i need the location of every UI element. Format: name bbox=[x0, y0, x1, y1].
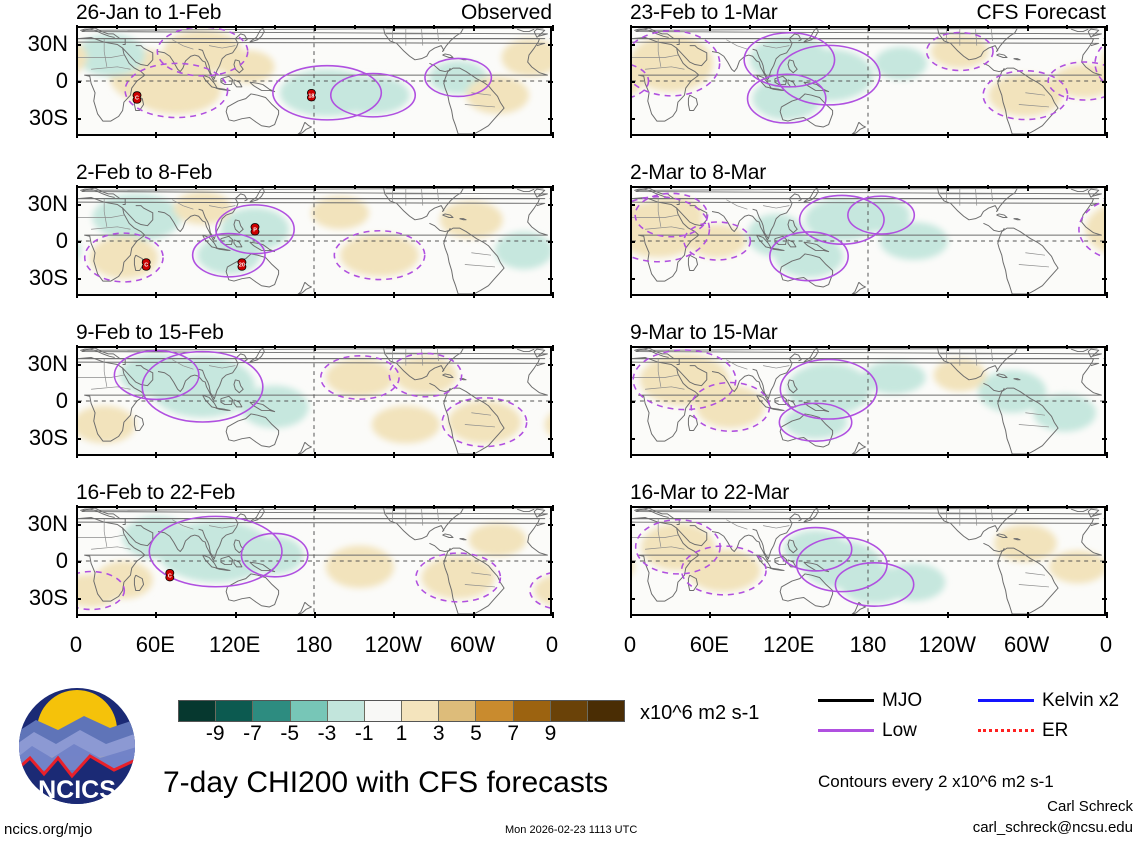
axis-tick-minor bbox=[709, 185, 711, 189]
axis-tick-minor bbox=[947, 345, 949, 349]
legend-item: ER bbox=[978, 718, 1068, 742]
legend-label: Kelvin x2 bbox=[1042, 691, 1119, 710]
axis-tick bbox=[630, 561, 635, 563]
axis-tick bbox=[947, 132, 949, 138]
axis-tick bbox=[709, 452, 711, 458]
axis-tick-minor bbox=[155, 25, 157, 29]
colorbar-segment bbox=[253, 701, 290, 721]
axis-tick bbox=[473, 612, 475, 618]
axis-tick-minor bbox=[670, 25, 672, 29]
axis-tick bbox=[548, 204, 553, 206]
axis-tick bbox=[1106, 132, 1108, 138]
author-name-label: Carl Schreck bbox=[1047, 798, 1133, 815]
axis-tick-minor bbox=[749, 505, 751, 509]
axis-tick-minor bbox=[512, 25, 514, 29]
axis-tick bbox=[630, 292, 632, 298]
colorbar-segment bbox=[476, 701, 513, 721]
y-axis-label: 0 bbox=[56, 390, 68, 412]
colorbar-segment bbox=[439, 701, 476, 721]
axis-tick-minor bbox=[789, 25, 791, 29]
axis-tick bbox=[76, 598, 81, 600]
map-frame: C18 bbox=[76, 26, 552, 136]
map-shading bbox=[632, 508, 1104, 614]
axis-tick bbox=[1102, 118, 1107, 120]
axis-tick bbox=[76, 364, 81, 366]
page-title: 7-day CHI200 with CFS forecasts bbox=[163, 768, 608, 798]
svg-text:C: C bbox=[168, 573, 172, 579]
axis-tick bbox=[630, 364, 635, 366]
legend-item: Kelvin x2 bbox=[978, 688, 1119, 712]
colorbar-segment bbox=[551, 701, 588, 721]
axis-tick-minor bbox=[433, 505, 435, 509]
legend-line-swatch bbox=[818, 699, 874, 702]
axis-tick-minor bbox=[868, 345, 870, 349]
map-shading bbox=[632, 28, 1104, 134]
y-axis-label: 0 bbox=[56, 230, 68, 252]
axis-tick bbox=[709, 612, 711, 618]
axis-tick-minor bbox=[709, 25, 711, 29]
axis-tick bbox=[630, 598, 635, 600]
map-frame: C bbox=[76, 506, 552, 616]
map-shading bbox=[632, 348, 1104, 454]
axis-tick bbox=[76, 292, 78, 298]
axis-tick-minor bbox=[433, 345, 435, 349]
legend-label: Low bbox=[882, 721, 917, 740]
colorbar-segment bbox=[216, 701, 253, 721]
axis-tick bbox=[76, 452, 78, 458]
axis-tick bbox=[548, 118, 553, 120]
axis-tick-minor bbox=[908, 185, 910, 189]
colorbar-tick-label: -7 bbox=[243, 723, 262, 744]
axis-tick-minor bbox=[155, 345, 157, 349]
axis-tick bbox=[789, 612, 791, 618]
axis-tick bbox=[393, 132, 395, 138]
axis-tick bbox=[76, 132, 78, 138]
colorbar-tick-labels: -9-7-5-3-113579 bbox=[178, 723, 625, 749]
panel-title: 26-Jan to 1-Feb bbox=[76, 2, 221, 23]
axis-tick-minor bbox=[828, 185, 830, 189]
axis-tick-minor bbox=[433, 185, 435, 189]
colorbar-units-label: x10^6 m2 s-1 bbox=[640, 702, 759, 725]
axis-tick bbox=[630, 278, 635, 280]
map-frame bbox=[630, 506, 1106, 616]
axis-tick bbox=[1106, 292, 1108, 298]
panel-title: 9-Feb to 15-Feb bbox=[76, 322, 224, 343]
axis-tick bbox=[552, 612, 554, 618]
axis-tick-minor bbox=[195, 345, 197, 349]
axis-tick-minor bbox=[630, 505, 632, 509]
axis-tick bbox=[630, 452, 632, 458]
axis-tick-minor bbox=[987, 25, 989, 29]
svg-text:C: C bbox=[135, 96, 139, 102]
axis-tick bbox=[1027, 452, 1029, 458]
axis-tick-minor bbox=[789, 345, 791, 349]
panel-grid: 26-Jan to 1-FebObservedC1830N030S2-Feb t… bbox=[0, 0, 1135, 670]
axis-tick bbox=[76, 278, 81, 280]
axis-tick-minor bbox=[354, 345, 356, 349]
axis-tick bbox=[1102, 438, 1107, 440]
axis-tick bbox=[76, 204, 81, 206]
axis-tick bbox=[947, 612, 949, 618]
axis-tick-minor bbox=[393, 25, 395, 29]
axis-tick-minor bbox=[670, 185, 672, 189]
y-axis-label: 0 bbox=[56, 550, 68, 572]
axis-tick bbox=[473, 292, 475, 298]
colorbar-segment bbox=[328, 701, 365, 721]
axis-tick-minor bbox=[709, 505, 711, 509]
y-axis-label: 30N bbox=[28, 513, 68, 535]
axis-tick-minor bbox=[76, 505, 78, 509]
axis-tick-minor bbox=[828, 345, 830, 349]
axis-tick-minor bbox=[670, 505, 672, 509]
axis-tick bbox=[314, 612, 316, 618]
axis-tick-minor bbox=[274, 505, 276, 509]
axis-tick bbox=[76, 401, 81, 403]
axis-tick bbox=[235, 292, 237, 298]
axis-tick bbox=[1102, 44, 1107, 46]
axis-tick-minor bbox=[630, 185, 632, 189]
panel-title: 9-Mar to 15-Mar bbox=[630, 322, 778, 343]
y-axis-label: 30N bbox=[28, 353, 68, 375]
svg-text:C: C bbox=[144, 263, 148, 269]
map-shading bbox=[78, 348, 550, 454]
axis-tick bbox=[314, 132, 316, 138]
axis-tick-minor bbox=[473, 25, 475, 29]
axis-tick-minor bbox=[987, 505, 989, 509]
axis-tick-minor bbox=[433, 25, 435, 29]
axis-tick-minor bbox=[76, 185, 78, 189]
axis-tick-minor bbox=[630, 25, 632, 29]
logo-text: NCICS bbox=[38, 776, 116, 804]
y-axis-label: 30S bbox=[29, 587, 68, 609]
axis-tick-minor bbox=[552, 505, 554, 509]
axis-tick-minor bbox=[789, 185, 791, 189]
axis-tick-minor bbox=[393, 185, 395, 189]
colorbar-segment bbox=[402, 701, 439, 721]
axis-tick bbox=[552, 292, 554, 298]
axis-tick-minor bbox=[393, 505, 395, 509]
axis-tick bbox=[1102, 524, 1107, 526]
axis-tick bbox=[1027, 132, 1029, 138]
axis-tick bbox=[235, 132, 237, 138]
y-axis-label: 0 bbox=[56, 70, 68, 92]
axis-tick-minor bbox=[1066, 345, 1068, 349]
axis-tick-minor bbox=[1027, 25, 1029, 29]
axis-tick bbox=[473, 132, 475, 138]
axis-tick-minor bbox=[76, 345, 78, 349]
axis-tick bbox=[76, 81, 81, 83]
axis-tick bbox=[1106, 452, 1108, 458]
legend-item: MJO bbox=[818, 688, 922, 712]
axis-tick-minor bbox=[512, 185, 514, 189]
axis-tick bbox=[548, 438, 553, 440]
axis-tick-minor bbox=[1066, 505, 1068, 509]
axis-tick-minor bbox=[709, 345, 711, 349]
axis-tick-minor bbox=[947, 505, 949, 509]
axis-tick bbox=[630, 132, 632, 138]
axis-tick bbox=[552, 132, 554, 138]
map-shading: CP20 bbox=[78, 188, 550, 294]
axis-tick bbox=[548, 598, 553, 600]
axis-tick bbox=[630, 81, 635, 83]
axis-tick bbox=[155, 292, 157, 298]
axis-tick-minor bbox=[749, 345, 751, 349]
axis-tick-minor bbox=[116, 505, 118, 509]
axis-tick bbox=[1102, 598, 1107, 600]
panel-title: 16-Feb to 22-Feb bbox=[76, 482, 235, 503]
panel-title: 16-Mar to 22-Mar bbox=[630, 482, 789, 503]
axis-tick-minor bbox=[828, 25, 830, 29]
axis-tick bbox=[630, 401, 635, 403]
legend-label: ER bbox=[1042, 721, 1068, 740]
legend-line-swatch bbox=[978, 699, 1034, 702]
axis-tick bbox=[155, 452, 157, 458]
axis-tick-minor bbox=[195, 505, 197, 509]
axis-tick-minor bbox=[393, 345, 395, 349]
axis-tick-minor bbox=[749, 25, 751, 29]
colorbar-tick-label: 3 bbox=[433, 723, 445, 744]
axis-tick bbox=[548, 524, 553, 526]
axis-tick-minor bbox=[1106, 185, 1108, 189]
axis-tick-minor bbox=[314, 505, 316, 509]
y-axis-label: 30N bbox=[28, 193, 68, 215]
svg-text:18: 18 bbox=[308, 93, 314, 99]
axis-tick bbox=[155, 612, 157, 618]
axis-tick bbox=[1027, 292, 1029, 298]
axis-tick-minor bbox=[354, 505, 356, 509]
axis-tick bbox=[630, 204, 635, 206]
axis-tick bbox=[155, 132, 157, 138]
axis-tick bbox=[76, 524, 81, 526]
axis-tick bbox=[393, 292, 395, 298]
axis-tick bbox=[1102, 204, 1107, 206]
axis-tick-minor bbox=[552, 345, 554, 349]
legend-item: Low bbox=[818, 718, 917, 742]
timestamp-label: Mon 2026-02-23 1113 UTC bbox=[505, 824, 637, 836]
colorbar-segment bbox=[514, 701, 551, 721]
axis-tick-minor bbox=[235, 25, 237, 29]
axis-tick-minor bbox=[235, 345, 237, 349]
axis-tick-minor bbox=[552, 185, 554, 189]
y-axis-label: 30S bbox=[29, 107, 68, 129]
axis-tick bbox=[947, 452, 949, 458]
axis-tick bbox=[709, 292, 711, 298]
axis-tick-minor bbox=[195, 185, 197, 189]
axis-tick bbox=[1102, 278, 1107, 280]
axis-tick bbox=[235, 612, 237, 618]
map-shading: C bbox=[78, 508, 550, 614]
axis-tick bbox=[76, 561, 81, 563]
axis-tick-minor bbox=[473, 505, 475, 509]
legend-line-swatch bbox=[978, 729, 1034, 732]
axis-tick bbox=[630, 524, 635, 526]
axis-tick-minor bbox=[195, 25, 197, 29]
panel-column-label: CFS Forecast bbox=[976, 2, 1106, 23]
axis-tick-minor bbox=[116, 345, 118, 349]
axis-tick-minor bbox=[314, 345, 316, 349]
axis-tick bbox=[709, 132, 711, 138]
axis-tick bbox=[314, 292, 316, 298]
colorbar-segment bbox=[291, 701, 328, 721]
axis-tick bbox=[76, 438, 81, 440]
colorbar-tick-label: 9 bbox=[545, 723, 557, 744]
axis-tick bbox=[630, 612, 632, 618]
y-axis-label: 30N bbox=[28, 33, 68, 55]
axis-tick-minor bbox=[235, 185, 237, 189]
axis-tick bbox=[393, 612, 395, 618]
axis-tick-minor bbox=[670, 345, 672, 349]
axis-tick-minor bbox=[155, 505, 157, 509]
axis-tick-minor bbox=[274, 185, 276, 189]
axis-tick bbox=[630, 241, 635, 243]
map-frame bbox=[630, 26, 1106, 136]
axis-tick-minor bbox=[868, 185, 870, 189]
axis-tick bbox=[630, 438, 635, 440]
axis-tick-minor bbox=[473, 345, 475, 349]
panel-column-label: Observed bbox=[461, 2, 552, 23]
axis-tick bbox=[868, 292, 870, 298]
colorbar-segment bbox=[588, 701, 624, 721]
axis-tick bbox=[76, 44, 81, 46]
panel-title: 2-Mar to 8-Mar bbox=[630, 162, 766, 183]
axis-tick-minor bbox=[908, 25, 910, 29]
colorbar-tick-label: -9 bbox=[206, 723, 225, 744]
y-axis-label: 30S bbox=[29, 267, 68, 289]
axis-tick-minor bbox=[749, 185, 751, 189]
axis-tick-minor bbox=[512, 345, 514, 349]
axis-tick bbox=[1102, 364, 1107, 366]
colorbar-tick-label: -3 bbox=[318, 723, 337, 744]
axis-tick bbox=[630, 118, 635, 120]
axis-tick bbox=[548, 44, 553, 46]
axis-tick bbox=[1106, 612, 1108, 618]
axis-tick-minor bbox=[947, 185, 949, 189]
axis-tick bbox=[548, 81, 553, 83]
axis-tick-minor bbox=[868, 505, 870, 509]
colorbar-tick-label: 5 bbox=[470, 723, 482, 744]
axis-tick-minor bbox=[1027, 185, 1029, 189]
axis-tick bbox=[1102, 81, 1107, 83]
axis-tick bbox=[630, 44, 635, 46]
axis-tick-minor bbox=[908, 345, 910, 349]
axis-tick-minor bbox=[1027, 345, 1029, 349]
axis-tick bbox=[789, 452, 791, 458]
colorbar-segment bbox=[179, 701, 216, 721]
axis-tick-minor bbox=[314, 185, 316, 189]
x-axis-label: 0 bbox=[1056, 634, 1135, 656]
axis-tick-minor bbox=[235, 505, 237, 509]
map-frame bbox=[630, 346, 1106, 456]
legend-label: MJO bbox=[882, 691, 922, 710]
axis-tick-minor bbox=[76, 25, 78, 29]
axis-tick bbox=[548, 278, 553, 280]
axis-tick bbox=[868, 452, 870, 458]
axis-tick-minor bbox=[1106, 345, 1108, 349]
map-frame: CP20 bbox=[76, 186, 552, 296]
axis-tick bbox=[393, 452, 395, 458]
axis-tick bbox=[1027, 612, 1029, 618]
axis-tick bbox=[314, 452, 316, 458]
axis-tick-minor bbox=[116, 185, 118, 189]
axis-tick-minor bbox=[274, 345, 276, 349]
axis-tick bbox=[1102, 401, 1107, 403]
map-frame bbox=[630, 186, 1106, 296]
colorbar-tick-label: -1 bbox=[355, 723, 374, 744]
axis-tick-minor bbox=[116, 25, 118, 29]
axis-tick-minor bbox=[908, 505, 910, 509]
axis-tick bbox=[548, 401, 553, 403]
axis-tick bbox=[473, 452, 475, 458]
axis-tick-minor bbox=[987, 185, 989, 189]
axis-tick-minor bbox=[1066, 185, 1068, 189]
axis-tick bbox=[548, 364, 553, 366]
axis-tick bbox=[548, 241, 553, 243]
axis-tick bbox=[789, 132, 791, 138]
axis-tick-minor bbox=[552, 25, 554, 29]
colorbar-tick-label: 1 bbox=[396, 723, 408, 744]
axis-tick bbox=[789, 292, 791, 298]
axis-tick bbox=[1102, 241, 1107, 243]
axis-tick bbox=[868, 132, 870, 138]
axis-tick-minor bbox=[274, 25, 276, 29]
axis-tick bbox=[235, 452, 237, 458]
axis-tick-minor bbox=[354, 185, 356, 189]
legend-line-swatch bbox=[818, 729, 874, 732]
panel-title: 2-Feb to 8-Feb bbox=[76, 162, 212, 183]
site-url-label[interactable]: ncics.org/mjo bbox=[4, 821, 92, 838]
colorbar-tick-label: 7 bbox=[507, 723, 519, 744]
axis-tick bbox=[548, 561, 553, 563]
colorbar-segment bbox=[365, 701, 402, 721]
author-email-label[interactable]: carl_schreck@ncsu.edu bbox=[973, 819, 1133, 836]
contour-interval-note: Contours every 2 x10^6 m2 s-1 bbox=[818, 772, 1054, 792]
axis-tick-minor bbox=[155, 185, 157, 189]
y-axis-label: 30S bbox=[29, 427, 68, 449]
axis-tick bbox=[76, 241, 81, 243]
map-shading bbox=[632, 188, 1104, 294]
map-frame bbox=[76, 346, 552, 456]
axis-tick-minor bbox=[1106, 505, 1108, 509]
axis-tick-minor bbox=[868, 25, 870, 29]
axis-tick bbox=[947, 292, 949, 298]
contour-legend: MJOKelvin x2LowER bbox=[818, 688, 1118, 744]
axis-tick-minor bbox=[354, 25, 356, 29]
axis-tick bbox=[552, 452, 554, 458]
colorbar-tick-label: -5 bbox=[280, 723, 299, 744]
axis-tick bbox=[1102, 561, 1107, 563]
axis-tick-minor bbox=[314, 25, 316, 29]
axis-tick-minor bbox=[1106, 25, 1108, 29]
panel-title: 23-Feb to 1-Mar bbox=[630, 2, 778, 23]
svg-text:P: P bbox=[253, 228, 257, 234]
colorbar bbox=[178, 700, 625, 722]
axis-tick-minor bbox=[987, 345, 989, 349]
axis-tick-minor bbox=[1066, 25, 1068, 29]
axis-tick-minor bbox=[1027, 505, 1029, 509]
axis-tick bbox=[868, 612, 870, 618]
ncics-logo[interactable]: NCICS bbox=[14, 686, 140, 812]
svg-text:20: 20 bbox=[239, 263, 245, 269]
axis-tick-minor bbox=[473, 185, 475, 189]
axis-tick bbox=[76, 612, 78, 618]
axis-tick-minor bbox=[947, 25, 949, 29]
axis-tick bbox=[76, 118, 81, 120]
axis-tick-minor bbox=[630, 345, 632, 349]
map-shading: C18 bbox=[78, 28, 550, 134]
axis-tick-minor bbox=[789, 505, 791, 509]
axis-tick-minor bbox=[512, 505, 514, 509]
axis-tick-minor bbox=[828, 505, 830, 509]
